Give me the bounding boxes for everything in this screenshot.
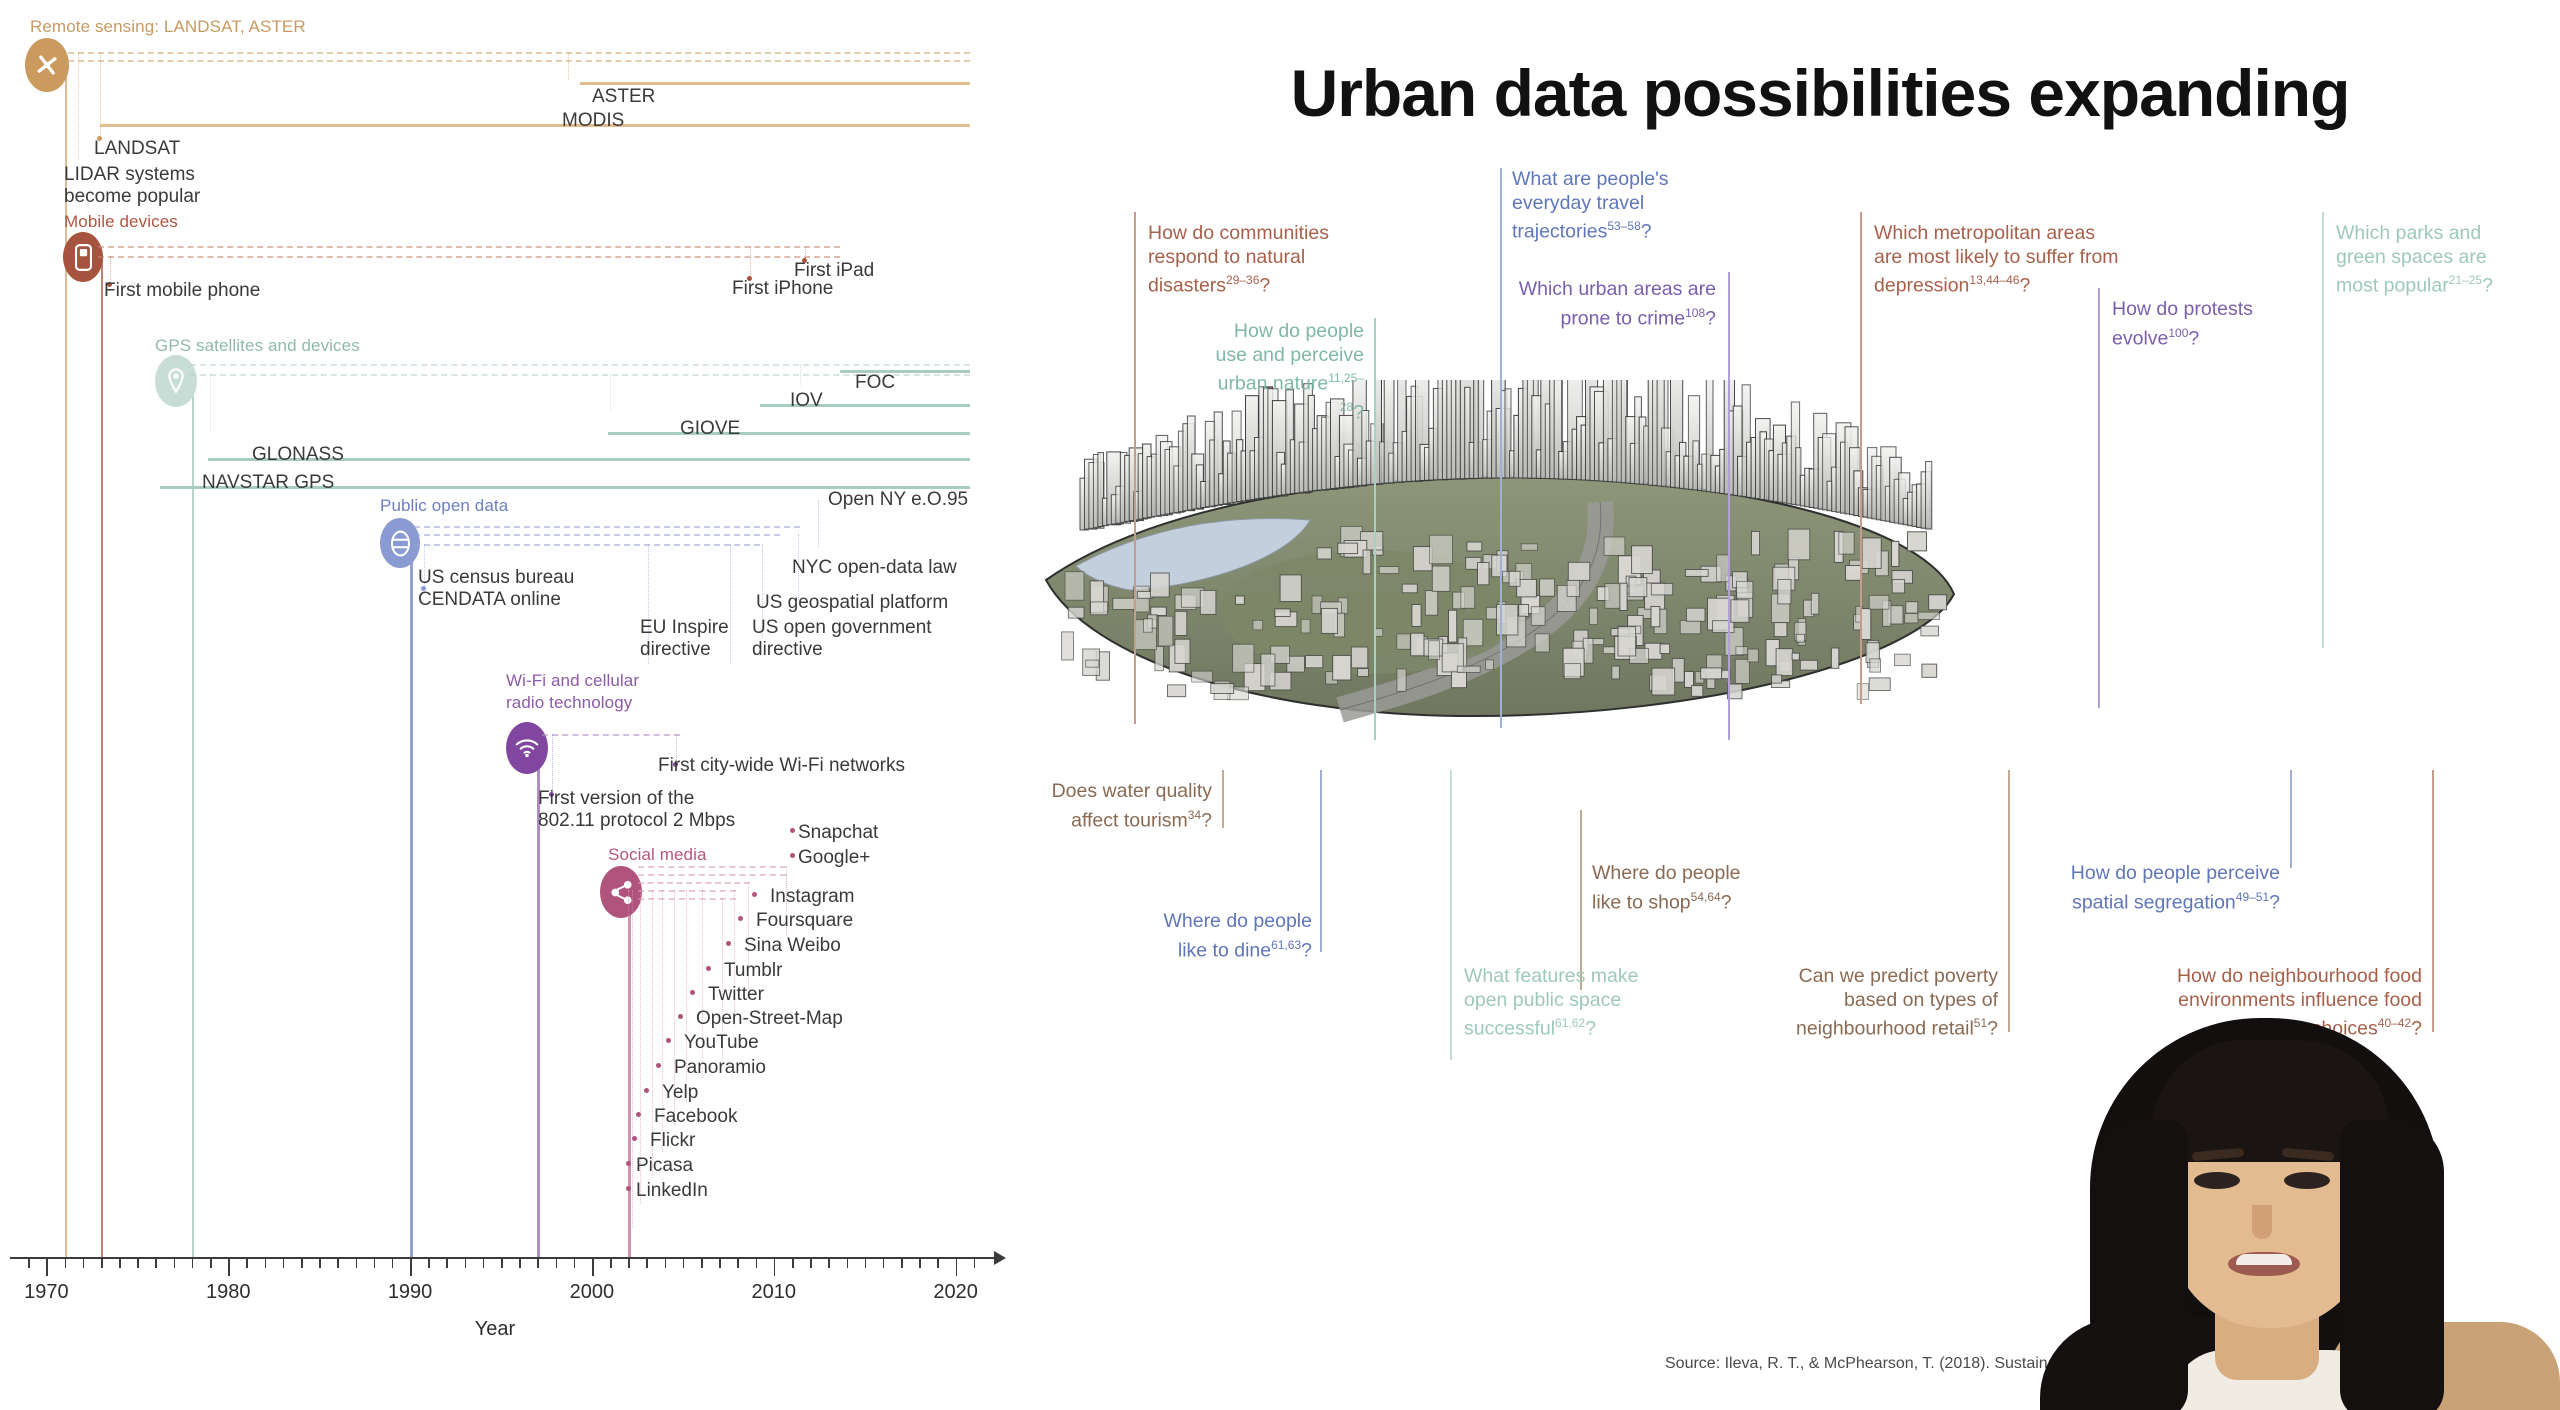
axis-tick-minor (556, 1259, 558, 1268)
axis-tick-minor (83, 1259, 85, 1268)
axis-tick-major (592, 1259, 594, 1276)
tick-linkedin (626, 1186, 631, 1191)
leader-remote-sensing-top (68, 52, 970, 54)
ref-travel-trajectories: 53–58 (1607, 219, 1640, 233)
item-label-googleplus: Google+ (798, 847, 870, 869)
leader-sm-instagram (638, 882, 750, 884)
question-urban-crime: Which urban areas are prone to crime108? (1510, 278, 1716, 331)
question-urban-nature: How do people use and perceive urban nat… (1200, 320, 1364, 425)
item-label-us-open-gov: US open governmentdirective (752, 617, 932, 661)
item-label-citywide-wifi: First city-wide Wi-Fi networks (658, 755, 905, 777)
question-protests: How do protests evolve100? (2112, 298, 2280, 351)
axis-title: Year (475, 1318, 515, 1341)
timeline-axis (10, 1257, 998, 1259)
axis-tick-minor (155, 1259, 157, 1268)
share-nodes-icon (600, 866, 642, 918)
axis-tick-minor (810, 1259, 812, 1268)
category-label-remote-sensing: Remote sensing: LANDSAT, ASTER (30, 17, 306, 37)
slide-canvas: Remote sensing: LANDSAT, ASTER ASTER MOD… (0, 0, 2560, 1410)
bar-modis (100, 124, 970, 127)
bar-label-modis: MODIS (562, 110, 624, 132)
axis-tick-minor (665, 1259, 667, 1268)
item-label-lidar: LIDAR systemsbecome popular (64, 164, 324, 208)
bar-label-glonass: GLONASS (252, 444, 344, 466)
category-label-gps: GPS satellites and devices (155, 336, 360, 356)
leader-pod-top3 (414, 544, 760, 546)
leader-wifi-top (542, 734, 680, 736)
ref-natural-disasters: 29–36 (1226, 273, 1259, 287)
tick-picasa (626, 1161, 631, 1166)
item-label-youtube: YouTube (684, 1032, 759, 1054)
presenter-eye-left (2194, 1172, 2240, 1189)
axis-tick-minor (119, 1259, 121, 1268)
leader-mobile-top2 (98, 256, 840, 258)
item-label-snapchat: Snapchat (798, 822, 878, 844)
ref-shop: 54,64 (1691, 890, 1721, 904)
axis-tick-minor (883, 1259, 885, 1268)
axis-tick-minor (210, 1259, 212, 1268)
axis-tick-minor (246, 1259, 248, 1268)
axis-tick-minor (683, 1259, 685, 1268)
axis-tick-major (410, 1259, 412, 1276)
leader-mobile-top (98, 246, 840, 248)
axis-tick-minor (28, 1259, 30, 1268)
item-label-linkedin: LinkedIn (636, 1180, 708, 1202)
item-label-foursquare: Foursquare (756, 910, 853, 932)
ref-dine: 61,63 (1271, 938, 1301, 952)
leader-gps-top2 (190, 374, 970, 376)
tick-sina-weibo (726, 941, 731, 946)
tick-snapchat (790, 828, 795, 833)
axis-tick-minor (646, 1259, 648, 1268)
ref-open-public-space: 61,62 (1555, 1016, 1585, 1030)
presenter-hair-left (2096, 1120, 2188, 1410)
bar-giove (608, 432, 970, 435)
leader-gps-iov (800, 364, 801, 386)
leader-remote-sensing-top2 (68, 60, 970, 62)
leader-protests (2098, 288, 2100, 708)
tick-instagram (752, 892, 757, 897)
ref-urban-crime: 108 (1685, 306, 1705, 320)
axis-tick-minor (628, 1259, 630, 1268)
axis-tick-minor (319, 1259, 321, 1268)
tick-tumblr (706, 966, 711, 971)
item-label-flickr: Flickr (650, 1130, 695, 1152)
leader-pod-top (414, 526, 800, 528)
tick-yelp (644, 1088, 649, 1093)
ref-water-tourism: 34 (1188, 808, 1201, 822)
leader-remote-aster (568, 52, 569, 80)
axis-tick-minor (392, 1259, 394, 1268)
presenter-nose (2252, 1205, 2272, 1239)
leader-gps-top (190, 364, 970, 366)
leader-poverty-retail (2008, 770, 2010, 1032)
axis-tick-minor (265, 1259, 267, 1268)
axis-tick-minor (101, 1259, 103, 1268)
leader-open-public-space (1450, 770, 1452, 1060)
category-label-public-open-data: Public open data (380, 496, 508, 516)
ref-parks-popular: 21–25 (2449, 273, 2482, 287)
axis-tick-minor (610, 1259, 612, 1268)
question-poverty-retail: Can we predict poverty based on types of… (1780, 965, 1998, 1041)
leader-wifi-802 (552, 734, 553, 794)
bar-label-giove: GIOVE (680, 418, 740, 440)
category-label-social-media: Social media (608, 845, 707, 865)
item-label-facebook: Facebook (654, 1106, 737, 1128)
leader-spatial-segregation (2290, 770, 2292, 868)
bar-label-aster: ASTER (592, 86, 655, 108)
axis-tick-minor (901, 1259, 903, 1268)
presenter-eye-right (2284, 1172, 2330, 1189)
ref-poverty-retail: 51 (1974, 1016, 1987, 1030)
item-label-us-census: US census bureauCENDATA online (418, 567, 574, 611)
leader-first-iphone (750, 246, 751, 278)
spine-mobile-devices (101, 255, 104, 1257)
tick-youtube (666, 1038, 671, 1043)
category-label-wifi: Wi-Fi and cellularradio technology (506, 670, 639, 714)
axis-tick-minor (174, 1259, 176, 1268)
axis-tick-minor (483, 1259, 485, 1268)
question-dine: Where do people like to dine61,63? (1140, 910, 1312, 963)
question-parks-popular: Which parks and green spaces are most po… (2336, 222, 2516, 298)
leader-remote-lidar (78, 52, 79, 160)
bar-label-iov: IOV (790, 390, 823, 412)
axis-tick-minor (137, 1259, 139, 1268)
question-water-tourism: Does water quality affect tourism34? (1030, 780, 1212, 833)
page-title: Urban data possibilities expanding (1110, 55, 2530, 131)
tick-osm (678, 1014, 683, 1019)
leader-gps-giove (610, 374, 611, 412)
leader-pod-top2 (414, 534, 780, 536)
bar-aster (580, 82, 970, 85)
leader-water-tourism (1222, 770, 1224, 828)
axis-tick-minor (919, 1259, 921, 1268)
axis-tick-label: 1980 (206, 1281, 251, 1304)
question-travel-trajectories: What are people's everyday travel trajec… (1512, 168, 1692, 244)
satellite-icon (25, 38, 69, 92)
question-depression: Which metropolitan areas are most likely… (1874, 222, 2122, 298)
item-label-osm: Open-Street-Map (696, 1008, 843, 1030)
item-label-picasa: Picasa (636, 1155, 693, 1177)
question-spatial-segregation: How do people perceive spatial segregati… (2052, 862, 2280, 915)
axis-tick-major (228, 1259, 230, 1276)
item-label-nyc-law: NYC open-data law (792, 557, 957, 579)
ref-depression: 13,44–46 (1969, 273, 2019, 287)
axis-tick-minor (719, 1259, 721, 1268)
leader-sm-snapchat (638, 866, 786, 868)
item-label-sina-weibo: Sina Weibo (744, 935, 841, 957)
spine-gps (192, 380, 195, 1257)
item-label-landsat: LANDSAT (94, 138, 180, 160)
axis-tick-minor (937, 1259, 939, 1268)
axis-tick-minor (465, 1259, 467, 1268)
bar-label-foc: FOC (855, 372, 895, 394)
item-label-panoramio: Panoramio (674, 1057, 766, 1079)
axis-tick-minor (828, 1259, 830, 1268)
question-natural-disasters: How do communities respond to natural di… (1148, 222, 1388, 298)
ref-urban-nature: 11,25–28 (1328, 371, 1364, 414)
presenter-teeth (2236, 1254, 2292, 1265)
axis-tick-minor (428, 1259, 430, 1268)
axis-tick-minor (701, 1259, 703, 1268)
item-label-first-mobile-phone: First mobile phone (104, 280, 260, 302)
axis-tick-minor (737, 1259, 739, 1268)
axis-tick-minor (501, 1259, 503, 1268)
question-open-public-space: What features make open public space suc… (1464, 965, 1640, 1041)
item-label-us-geospatial: US geospatial platform (756, 592, 948, 614)
axis-tick-major (774, 1259, 776, 1276)
ref-spatial-segregation: 49–51 (2236, 890, 2269, 904)
axis-tick-minor (756, 1259, 758, 1268)
axis-tick-label: 2020 (933, 1281, 978, 1304)
axis-tick-major (46, 1259, 48, 1276)
leader-depression (1860, 212, 1862, 704)
axis-tick-label: 2000 (570, 1281, 615, 1304)
category-label-mobile-devices: Mobile devices (64, 212, 178, 232)
axis-tick-label: 1970 (24, 1281, 69, 1304)
leader-dine (1320, 770, 1322, 952)
leader-remote-landsat (100, 52, 101, 140)
axis-tick-minor (337, 1259, 339, 1268)
item-label-yelp: Yelp (662, 1082, 698, 1104)
axis-tick-label: 1990 (388, 1281, 433, 1304)
item-label-instagram: Instagram (770, 886, 854, 908)
axis-tick-minor (865, 1259, 867, 1268)
axis-tick-minor (283, 1259, 285, 1268)
leader-urban-crime (1728, 272, 1730, 740)
axis-tick-label: 2010 (752, 1281, 797, 1304)
axis-tick-minor (192, 1259, 194, 1268)
axis-tick-minor (792, 1259, 794, 1268)
tick-googleplus (790, 853, 795, 858)
spine-public-open-data (410, 545, 413, 1257)
spine-remote-sensing (65, 60, 68, 1257)
axis-tick-minor (356, 1259, 358, 1268)
tick-twitter (690, 990, 695, 995)
item-label-open-ny: Open NY e.O.95 (828, 489, 968, 511)
presenter-hair-right (2340, 1120, 2444, 1410)
leader-urban-nature (1374, 318, 1376, 740)
tick-foursquare (738, 916, 743, 921)
leader-pod-openny (818, 500, 819, 548)
item-label-802-11: First version of the802.11 protocol 2 Mb… (538, 788, 735, 832)
tick-flickr (632, 1136, 637, 1141)
leader-sm-google (638, 874, 786, 876)
tick-panoramio (656, 1063, 661, 1068)
axis-arrow-icon (994, 1251, 1006, 1265)
leader-gps-glonass (210, 374, 211, 434)
axis-tick-minor (446, 1259, 448, 1268)
axis-tick-minor (847, 1259, 849, 1268)
wifi-icon (506, 722, 548, 774)
item-label-twitter: Twitter (708, 984, 764, 1006)
ref-protests: 100 (2168, 326, 2188, 340)
axis-tick-minor (974, 1259, 976, 1268)
question-shop: Where do people like to shop54,64? (1592, 862, 1760, 915)
tick-facebook (636, 1112, 641, 1117)
location-pin-icon (155, 355, 197, 407)
leader-pod-usgov (730, 544, 731, 664)
leader-natural-disasters (1134, 212, 1136, 724)
leader-sm-v-flickr (628, 890, 629, 1252)
axis-tick-major (956, 1259, 958, 1276)
leader-food-environments (2432, 770, 2434, 1032)
presenter-video-overlay[interactable] (2030, 1000, 2560, 1410)
leader-shop (1580, 810, 1582, 990)
axis-tick-minor (574, 1259, 576, 1268)
axis-tick-minor (301, 1259, 303, 1268)
axis-tick-minor (537, 1259, 539, 1268)
item-label-first-ipad: First iPad (794, 260, 874, 282)
mobile-phone-icon (63, 232, 103, 282)
axis-tick-minor (374, 1259, 376, 1268)
item-label-eu-inspire: EU Inspiredirective (640, 617, 729, 661)
leader-sm-v-facebook (632, 890, 633, 1228)
item-label-tumblr: Tumblr (724, 960, 782, 982)
leader-parks-popular (2322, 212, 2324, 648)
axis-tick-minor (519, 1259, 521, 1268)
bar-label-navstar: NAVSTAR GPS (202, 472, 334, 494)
axis-tick-minor (65, 1259, 67, 1268)
leader-travel-trajectories (1500, 168, 1502, 728)
urban-data-timeline: Remote sensing: LANDSAT, ASTER ASTER MOD… (0, 0, 1020, 1410)
